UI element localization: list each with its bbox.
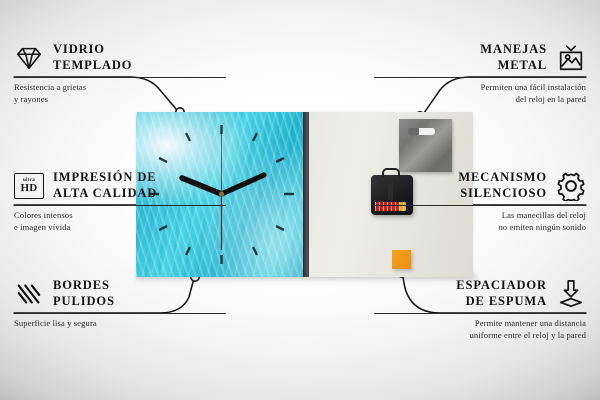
wall-clock-front bbox=[136, 112, 307, 277]
feature-description: Resistencia a grietas y rayones bbox=[14, 82, 226, 106]
gear-icon bbox=[556, 171, 586, 201]
feature-title-line1: BORDES bbox=[53, 278, 115, 294]
feature-vidrio-templado: VIDRIO TEMPLADO Resistencia a grietas y … bbox=[14, 42, 226, 106]
feature-header: MECANISMO SILENCIOSO bbox=[374, 170, 586, 201]
feature-title-line1: VIDRIO bbox=[53, 42, 132, 58]
diamond-icon bbox=[14, 43, 44, 73]
feature-manejas-metal: MANEJAS METAL Permiten una fácil instala… bbox=[374, 42, 586, 106]
feature-espaciador-espuma: ESPACIADOR DE ESPUMA Permite mantener un… bbox=[374, 278, 586, 342]
foam-spacer bbox=[392, 250, 411, 269]
feature-description: Las manecillas del reloj no emiten ningú… bbox=[374, 210, 586, 234]
clock-dial bbox=[136, 112, 307, 277]
picture-hanger-icon bbox=[556, 43, 586, 73]
clock-minute-hand bbox=[222, 175, 265, 194]
feature-title: MANEJAS METAL bbox=[480, 42, 547, 73]
feature-rule bbox=[374, 205, 586, 206]
feature-rule bbox=[374, 313, 586, 314]
feature-title-line1: MANEJAS bbox=[480, 42, 547, 58]
feature-title: MECANISMO SILENCIOSO bbox=[458, 170, 547, 201]
arrow-stack-icon bbox=[556, 279, 586, 309]
feature-description: Permite mantener una distancia uniforme … bbox=[374, 318, 586, 342]
feature-mecanismo-silencioso: MECANISMO SILENCIOSO Las manecillas del … bbox=[374, 170, 586, 234]
feature-header: ESPACIADOR DE ESPUMA bbox=[374, 278, 586, 309]
feature-header: MANEJAS METAL bbox=[374, 42, 586, 73]
ultra-hd-icon: ultra HD bbox=[14, 173, 44, 199]
hanger-keyhole-slot bbox=[408, 128, 435, 135]
feature-title-line1: MECANISMO bbox=[458, 170, 547, 186]
feature-description-text: Las manecillas del reloj no emiten ningú… bbox=[374, 210, 586, 234]
feature-title-line2: SILENCIOSO bbox=[458, 186, 547, 202]
clock-center-cap bbox=[219, 191, 224, 196]
feature-title: BORDES PULIDOS bbox=[53, 278, 115, 309]
ultra-hd-icon-bottom-text: HD bbox=[20, 183, 37, 194]
feature-title-line2: TEMPLADO bbox=[53, 58, 132, 74]
feature-title: VIDRIO TEMPLADO bbox=[53, 42, 132, 73]
feature-title-line2: DE ESPUMA bbox=[456, 294, 547, 310]
feature-description-text: Superficie lisa y segura bbox=[14, 318, 226, 330]
feature-description: Permiten una fácil instalación del reloj… bbox=[374, 82, 586, 106]
feature-description: Superficie lisa y segura bbox=[14, 318, 226, 330]
infographic-stage: VIDRIO TEMPLADO Resistencia a grietas y … bbox=[0, 0, 600, 400]
feature-description-text: Permiten una fácil instalación del reloj… bbox=[374, 82, 586, 106]
feature-header: BORDES PULIDOS bbox=[14, 278, 226, 309]
feature-description-text: Permite mantener una distancia uniforme … bbox=[374, 318, 586, 342]
feature-title-line1: ESPACIADOR bbox=[456, 278, 547, 294]
feature-bordes-pulidos: BORDES PULIDOS Superficie lisa y segura bbox=[14, 278, 226, 330]
feature-rule bbox=[374, 77, 586, 78]
feature-title-line2: METAL bbox=[480, 58, 547, 74]
feature-header: VIDRIO TEMPLADO bbox=[14, 42, 226, 73]
feature-title: ESPACIADOR DE ESPUMA bbox=[456, 278, 547, 309]
feature-description-text: Resistencia a grietas y rayones bbox=[14, 82, 226, 106]
clock-hour-hand bbox=[182, 178, 222, 194]
diagonal-lines-icon bbox=[14, 279, 44, 309]
feature-rule bbox=[14, 313, 226, 314]
metal-hanger bbox=[399, 119, 452, 172]
feature-rule bbox=[14, 77, 226, 78]
feature-title-line2: PULIDOS bbox=[53, 294, 115, 310]
